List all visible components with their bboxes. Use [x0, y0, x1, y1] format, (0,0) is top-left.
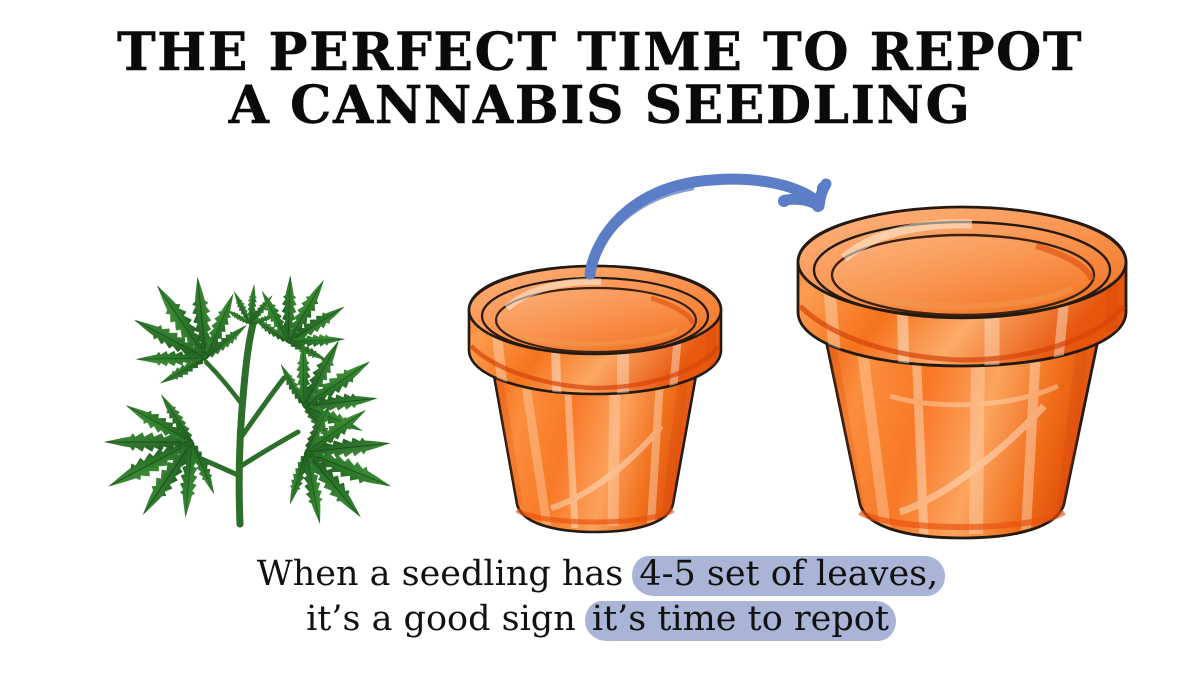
caption-line-1: When a seedling has 4-5 set of leaves,: [0, 552, 1200, 597]
caption-line-2-text: it’s a good sign: [306, 599, 587, 639]
curved-transfer-arrow: [570, 168, 860, 288]
title-line-2: A CANNABIS SEEDLING: [0, 79, 1200, 132]
infographic-canvas: THE PERFECT TIME TO REPOT A CANNABIS SEE…: [0, 0, 1200, 680]
caption: When a seedling has 4-5 set of leaves, i…: [0, 552, 1200, 642]
page-title: THE PERFECT TIME TO REPOT A CANNABIS SEE…: [0, 26, 1200, 132]
plant-fan-leaf-top-left: [104, 250, 262, 399]
caption-highlight-leaves: 4-5 set of leaves,: [634, 552, 943, 597]
arrow-shaft: [590, 179, 818, 274]
cannabis-seedling-illustration: [88, 236, 408, 526]
title-line-1: THE PERFECT TIME TO REPOT: [0, 26, 1200, 79]
small-terracotta-pot-illustration: [455, 258, 745, 548]
caption-line-1-text: When a seedling has: [257, 554, 635, 594]
caption-highlight-repot: it’s time to repot: [587, 597, 894, 642]
plant-fan-leaf-lower-right: [275, 388, 416, 548]
pot-large-body: [826, 340, 1098, 538]
caption-line-2: it’s a good sign it’s time to repot: [0, 597, 1200, 642]
